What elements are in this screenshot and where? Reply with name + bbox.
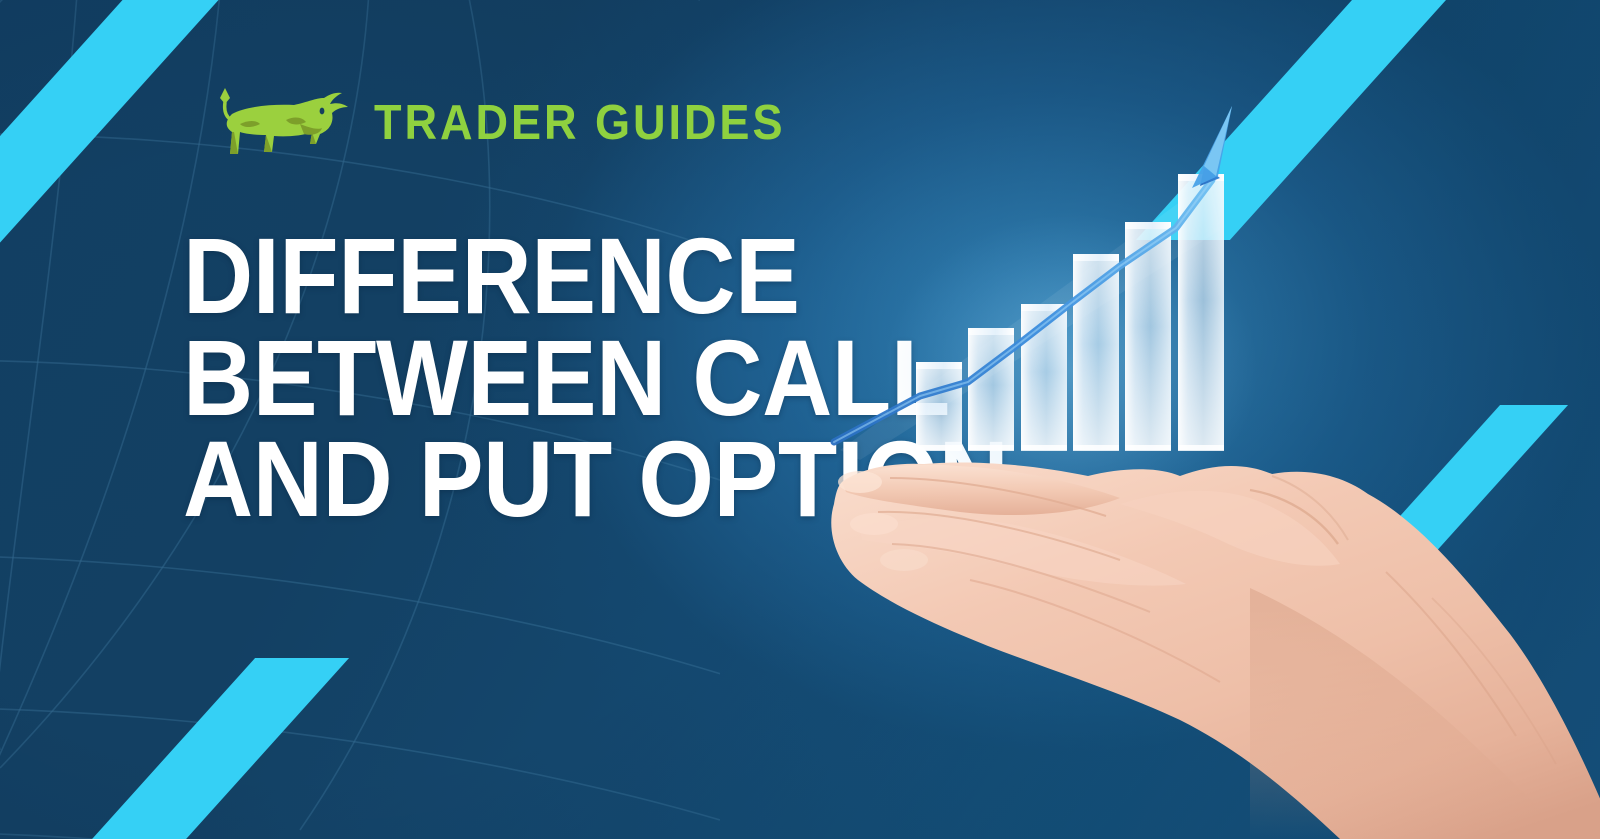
chart-bar [968,328,1014,451]
headline-line-1: DIFFERENCE [183,225,813,327]
bull-logo-icon [190,80,352,166]
banner-root: TRADER GUIDES DIFFERENCE BETWEEN CALL AN… [0,0,1600,839]
logo-text: TRADER GUIDES [374,99,785,148]
chart-bar [916,362,962,451]
headline-line-2: BETWEEN CALL [183,327,813,429]
logo[interactable]: TRADER GUIDES [190,80,821,166]
page-title: DIFFERENCE BETWEEN CALL AND PUT OPTION [183,225,883,530]
chart-svg [820,60,1280,480]
headline-line-3: AND PUT OPTION [183,428,813,530]
glass-bar-chart [820,60,1280,480]
